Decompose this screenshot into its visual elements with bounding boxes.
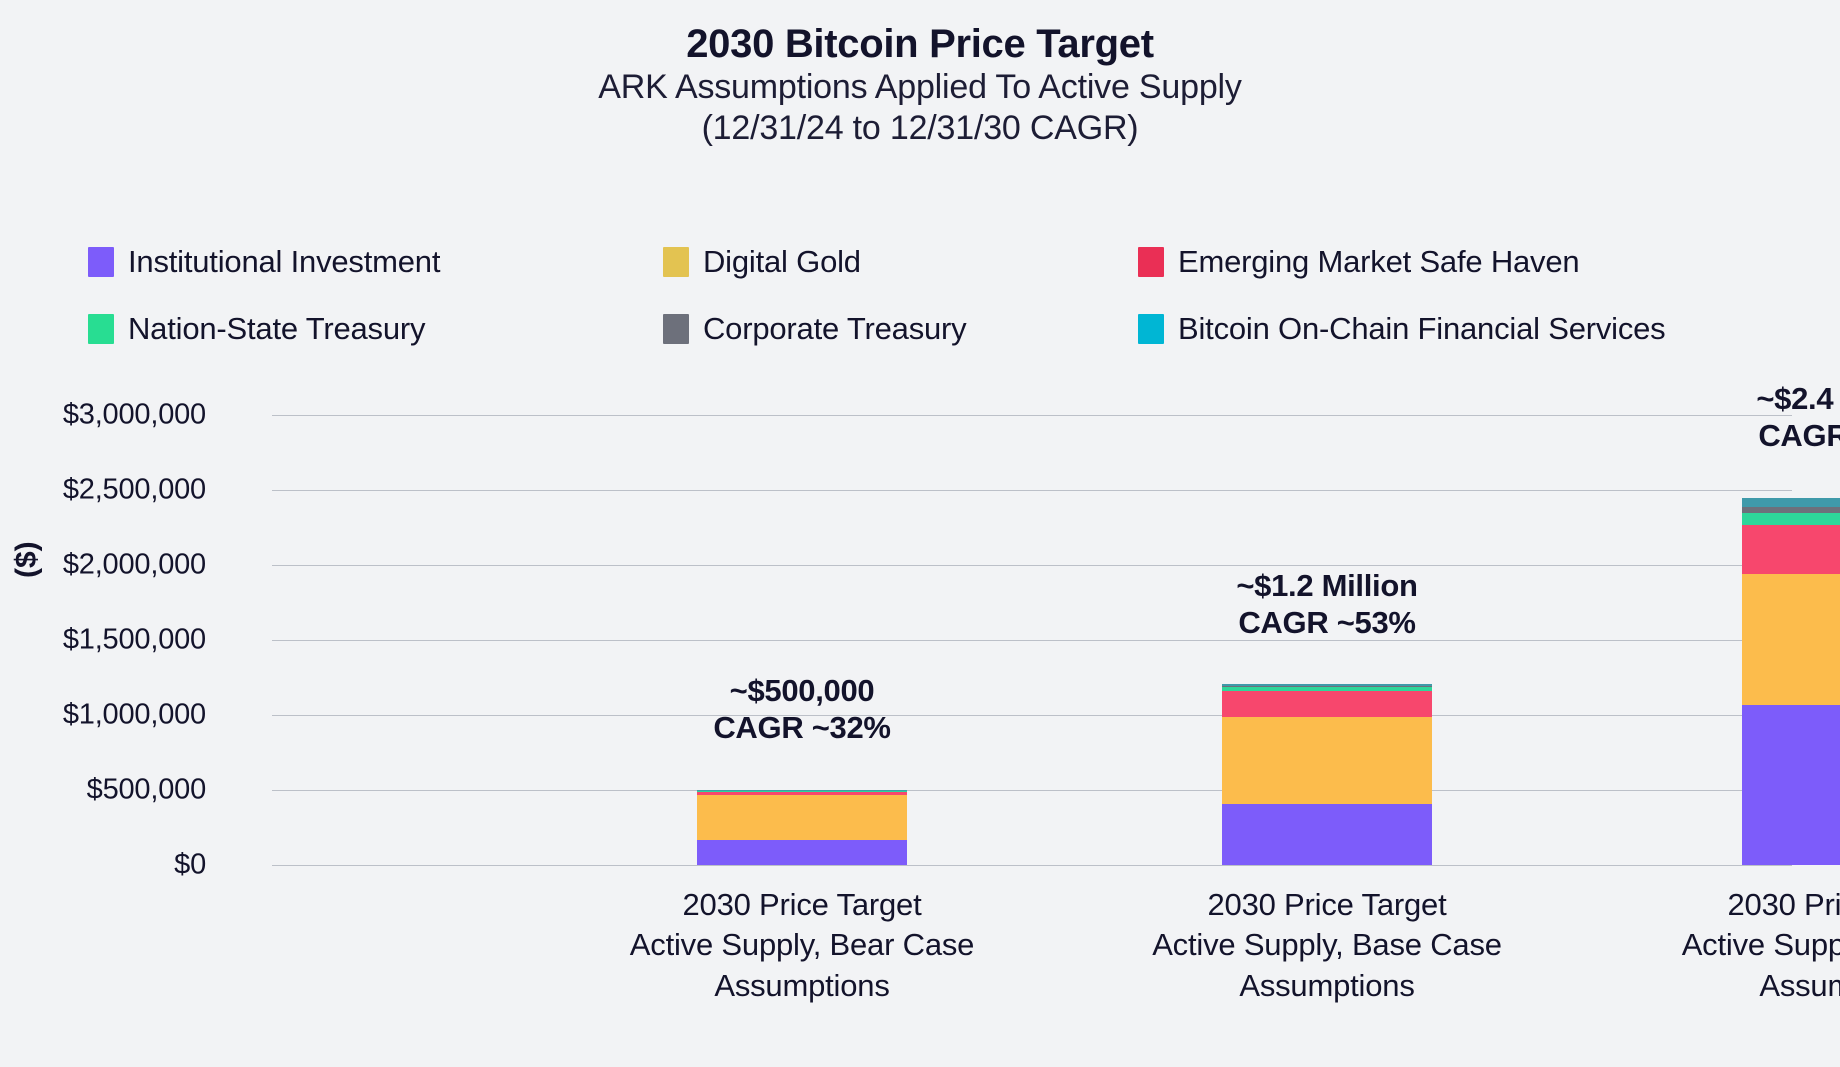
plot-area: $3,000,000$2,500,000$2,000,000$1,500,000… [272,415,1792,865]
category-label-line-1: 2030 Price Target [1617,885,1840,925]
bar-annotation-cagr: CAGR ~32% [602,709,1002,746]
bar-segment[interactable] [1742,507,1840,514]
bar-annotation-total: ~$1.2 Million [1127,567,1527,604]
bar-annotation: ~$1.2 MillionCAGR ~53% [1127,567,1527,641]
y-axis-tick-label: $2,500,000 [63,474,206,507]
y-axis-tick-label: $3,000,000 [63,399,206,432]
y-axis-tick-label: $1,000,000 [63,699,206,732]
gridline [272,565,1792,566]
bar-segment[interactable] [1742,705,1840,866]
x-axis-category-label: 2030 Price TargetActive Supply, Base Cas… [1097,885,1557,1006]
bar-annotation-cagr: CAGR ~72% [1647,417,1840,454]
bar-segment[interactable] [1222,804,1432,866]
bar-segment[interactable] [1222,717,1432,804]
gridline [272,490,1792,491]
bar-annotation-total: ~$500,000 [602,672,1002,709]
category-label-line-3: Assumptions [572,966,1032,1006]
x-axis-category-label: 2030 Price TargetActive Supply, Bear Cas… [572,885,1032,1006]
category-label-line-3: Assumptions [1097,966,1557,1006]
gridline [272,640,1792,641]
bar-segment[interactable] [1742,498,1840,507]
x-axis-category-label: 2030 Price TargetActive Supply, Bull Cas… [1617,885,1840,1006]
bar-segment[interactable] [1222,691,1432,717]
category-label-line-2: Active Supply, Base Case [1097,925,1557,965]
y-axis-title: ($) [10,541,44,578]
gridline [272,715,1792,716]
bar-segment[interactable] [1742,525,1840,574]
bar-segment[interactable] [697,840,907,866]
stacked-bar[interactable] [1222,684,1432,865]
bar-segment[interactable] [1742,513,1840,525]
y-axis-tick-label: $1,500,000 [63,624,206,657]
category-label-line-2: Active Supply, Bull Case [1617,925,1840,965]
gridline [272,865,1792,866]
category-label-line-3: Assumptions [1617,966,1840,1006]
chart-plot: ($) $3,000,000$2,500,000$2,000,000$1,500… [0,0,1840,1067]
bar-segment[interactable] [1742,574,1840,705]
category-label-line-1: 2030 Price Target [572,885,1032,925]
stacked-bar[interactable] [697,790,907,865]
category-label-line-2: Active Supply, Bear Case [572,925,1032,965]
y-axis-tick-label: $500,000 [87,774,206,807]
y-axis-tick-label: $2,000,000 [63,549,206,582]
bar-annotation-total: ~$2.4 Million [1647,380,1840,417]
bar-annotation-cagr: CAGR ~53% [1127,604,1527,641]
gridline [272,415,1792,416]
bar-annotation: ~$2.4 MillionCAGR ~72% [1647,380,1840,454]
y-axis-tick-label: $0 [174,849,206,882]
bar-segment[interactable] [697,795,907,840]
gridline [272,790,1792,791]
category-label-line-1: 2030 Price Target [1097,885,1557,925]
stacked-bar[interactable] [1742,498,1840,866]
bar-annotation: ~$500,000CAGR ~32% [602,672,1002,746]
